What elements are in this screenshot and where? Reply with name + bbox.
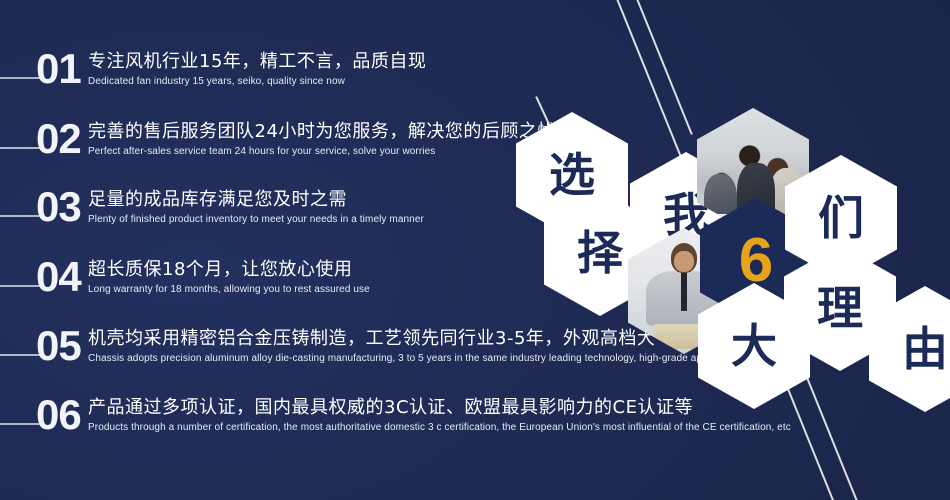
- reason-number: 05: [36, 325, 96, 367]
- reason-text-cn: 产品通过多项认证，国内最具权威的3C认证、欧盟最具影响力的CE认证等: [88, 396, 791, 420]
- reason-dash: [0, 423, 40, 425]
- reason-dash: [0, 147, 40, 149]
- reason-text-en: Products through a number of certificati…: [88, 421, 791, 434]
- reason-dash: [0, 354, 40, 356]
- reason-text-group: 足量的成品库存满足您及时之需 Plenty of finished produc…: [88, 188, 424, 226]
- reason-text-en: Long warranty for 18 months, allowing yo…: [88, 283, 370, 296]
- hex-label-li: 理: [817, 285, 863, 331]
- hex-label-da: 大: [731, 323, 777, 369]
- reason-text-en: Chassis adopts precision aluminum alloy …: [88, 352, 801, 365]
- reason-number: 06: [36, 394, 96, 436]
- promo-banner: 01 专注风机行业15年，精工不言，品质自现 Dedicated fan ind…: [0, 0, 950, 500]
- reason-dash: [0, 215, 40, 217]
- hex-label-you: 由: [902, 326, 948, 372]
- reason-text-cn: 完善的售后服务团队24小时为您服务，解决您的后顾之忧: [88, 120, 556, 144]
- reason-number: 02: [36, 118, 96, 160]
- reason-text-cn: 足量的成品库存满足您及时之需: [88, 188, 424, 212]
- reason-text-cn: 超长质保18个月，让您放心使用: [88, 258, 370, 282]
- reason-number: 04: [36, 256, 96, 298]
- reason-number: 01: [36, 48, 96, 90]
- reason-text-group: 产品通过多项认证，国内最具权威的3C认证、欧盟最具影响力的CE认证等 Produ…: [88, 396, 791, 434]
- reason-text-group: 专注风机行业15年，精工不言，品质自现 Dedicated fan indust…: [88, 50, 426, 88]
- reason-text-en: Plenty of finished product inventory to …: [88, 213, 424, 226]
- hex-label-ze: 择: [577, 230, 623, 276]
- hex-label-men: 们: [818, 195, 864, 241]
- reason-text-en: Perfect after-sales service team 24 hour…: [88, 145, 556, 158]
- reason-text-en: Dedicated fan industry 15 years, seiko, …: [88, 75, 426, 88]
- reason-text-group: 超长质保18个月，让您放心使用 Long warranty for 18 mon…: [88, 258, 370, 296]
- reason-text-cn: 专注风机行业15年，精工不言，品质自现: [88, 50, 426, 74]
- hex-label-xuan: 选: [549, 152, 595, 198]
- reason-dash: [0, 285, 40, 287]
- reason-dash: [0, 77, 40, 79]
- hex-label-six: 6: [739, 230, 773, 292]
- reason-number: 03: [36, 186, 96, 228]
- reason-text-group: 完善的售后服务团队24小时为您服务，解决您的后顾之忧 Perfect after…: [88, 120, 556, 158]
